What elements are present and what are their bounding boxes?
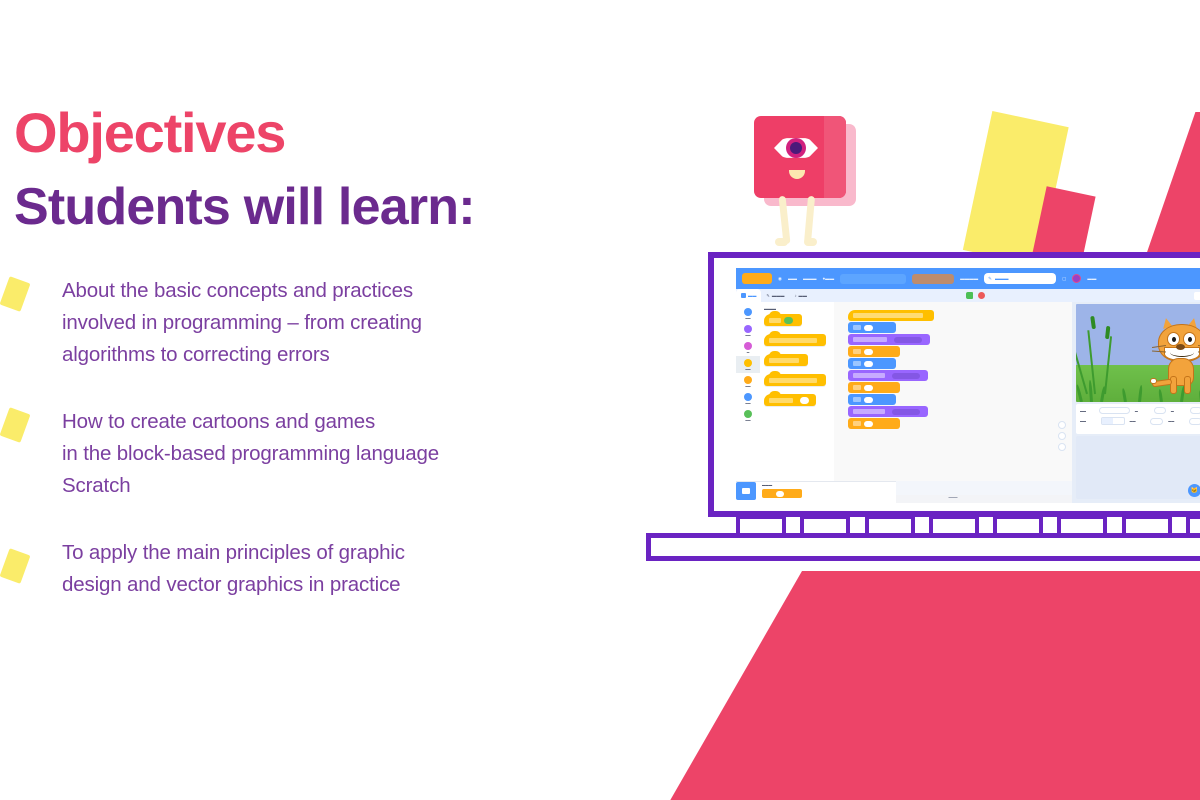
sprite-info-panel: ▬▬ ▬ ▬ ▬▬ [1076,404,1200,434]
palette-block[interactable] [764,374,826,386]
menu-tutorials[interactable]: ●▬▬ [822,276,834,281]
category-label: ▬▬ [745,317,750,320]
green-flag-icon[interactable] [966,292,973,299]
editor-tabs: ▬▬ ✎ ▬▬▬ ♪ ▬▬ [736,289,854,302]
new-project-button[interactable]: ✎ ▬▬▬ [984,273,1056,284]
tab-code[interactable]: ▬▬ [736,289,761,302]
sprite-name-label: ▬▬ [1080,409,1094,413]
list-item-text: About the basic concepts and practices i… [62,275,422,371]
bullet-marker-icon [0,548,30,584]
category-operators[interactable]: ▬▬ [736,407,760,424]
bullet-marker-icon [0,276,30,312]
script-block[interactable] [848,382,900,393]
cat-leg-back [1170,376,1177,394]
folder-icon[interactable]: ▢ [1062,276,1066,282]
category-control[interactable]: ▬▬ [736,373,760,390]
sprite-size-label: ▬▬ [1130,419,1146,423]
category-motion[interactable]: ▬▬ [736,305,760,322]
text-column: Objectives Students will learn: About th… [0,0,660,800]
laptop-key [865,515,915,535]
menu-edit[interactable]: ▬▬▬ [803,276,817,281]
palette-block[interactable] [764,334,826,346]
category-dot-icon [744,308,752,316]
share-button[interactable] [912,274,954,284]
pink-triangle-decoration [1145,112,1200,258]
mascot-foot-left [775,238,788,246]
sprite-direction-input[interactable] [1189,418,1200,425]
category-label: ▬▬ [745,419,750,422]
palette-block[interactable] [764,314,802,326]
script-block[interactable] [848,358,896,369]
script-block[interactable] [848,322,896,333]
page-title-objectives: Objectives [14,104,285,163]
workspace-zoom-controls [1058,421,1066,451]
language-globe-icon[interactable]: ◉ [778,276,782,282]
list-item-text: To apply the main principles of graphic … [62,537,405,601]
cat-leg-front [1184,376,1191,394]
laptop-illustration: ◉ ▬▬ ▬▬▬ ●▬▬ ▬▬▬▬ ✎ ▬▬▬ ▢ ▬▬ [708,252,1200,572]
script-block[interactable] [848,406,928,417]
avatar[interactable] [1072,274,1081,283]
laptop-key [800,515,850,535]
block-category-list: ▬▬ ▬▬ ▬ ▬▬ [736,302,760,481]
script-block[interactable] [848,418,900,429]
category-events[interactable]: ▬▬ [736,356,760,373]
tab-costumes[interactable]: ✎ ▬▬▬ [761,289,789,302]
sprite-name-input[interactable] [1099,407,1130,414]
sprite-direction-label: ▬▬ [1168,419,1184,423]
palette-block[interactable] [764,394,816,406]
scratch-editor: ◉ ▬▬ ▬▬▬ ●▬▬ ▬▬▬▬ ✎ ▬▬▬ ▢ ▬▬ [736,268,1200,503]
laptop-key [1057,515,1107,535]
eye-pupil [790,142,802,154]
category-dot-icon [744,342,752,350]
cat-mouth [1170,348,1194,357]
cat-pupil-left [1172,337,1176,342]
project-name-input[interactable] [840,274,906,284]
backpack-button[interactable] [736,482,756,500]
sprite-y-input[interactable] [1190,407,1200,414]
script-block[interactable] [848,310,934,321]
laptop-screen: ◉ ▬▬ ▬▬▬ ●▬▬ ▬▬▬▬ ✎ ▬▬▬ ▢ ▬▬ [736,268,1200,503]
pink-trapezoid-decoration [592,571,1200,800]
script-block[interactable] [848,334,930,345]
backpack-label: ▬▬▬ [762,483,772,487]
sound-icon: ♪ [794,293,796,298]
zoom-out-icon[interactable] [1058,432,1066,440]
menu-file[interactable]: ▬▬ [788,276,797,281]
tab-code-label: ▬▬ [748,293,756,298]
stop-icon[interactable] [978,292,985,299]
sprite-size-input[interactable] [1150,418,1163,425]
sprite-visibility-toggle[interactable] [1101,417,1125,425]
palette-block[interactable] [764,354,808,366]
laptop-key [736,515,786,535]
backpack-block-item[interactable] [762,489,802,498]
sprite-list[interactable] [1076,436,1200,499]
cattail-head [1090,316,1096,329]
stage-view[interactable] [1076,304,1200,402]
backpack-bar: ▬▬▬ [736,481,896,503]
laptop-key [929,515,979,535]
category-looks[interactable]: ▬▬ [736,322,760,339]
script-block[interactable] [848,370,928,381]
plant-stem [1104,336,1112,394]
sprite-y-label: ▬ [1171,409,1185,413]
cyclops-mascot [748,112,868,258]
pencil-icon: ✎ [988,276,992,282]
scratch-logo-icon[interactable] [742,273,772,284]
mascot-body-shade [824,116,846,198]
category-label: ▬▬ [745,334,750,337]
tab-costumes-label: ▬▬▬ [772,293,785,298]
tab-sounds[interactable]: ♪ ▬▬ [789,289,811,302]
block-script-stack[interactable] [848,310,960,430]
mascot-foot-right [804,238,817,246]
laptop-key [1122,515,1172,535]
code-icon [741,293,746,298]
illustration-area: ◉ ▬▬ ▬▬▬ ●▬▬ ▬▬▬▬ ✎ ▬▬▬ ▢ ▬▬ [640,0,1200,800]
grass-blade [1122,388,1127,402]
scratch-cat-sprite[interactable] [1150,318,1200,398]
script-block[interactable] [848,394,896,405]
category-dot-icon [744,359,752,367]
see-project-page-link[interactable]: ▬▬▬▬ [960,276,978,281]
laptop-keyboard [736,515,1200,535]
category-label: ▬▬ [745,385,750,388]
zoom-reset-icon[interactable] [1058,443,1066,451]
grass-blade [1076,384,1083,402]
stage-size-controls [1194,292,1200,300]
category-label: ▬ [747,351,750,354]
laptop-key [1186,515,1200,535]
sprite-x-input[interactable] [1154,407,1166,414]
new-project-label: ▬▬▬ [995,276,1009,281]
laptop-base [646,533,1200,561]
add-sprite-button[interactable]: 🐱 [1188,484,1200,497]
sprite-x-label: ▬ [1135,409,1149,413]
script-block[interactable] [848,346,900,357]
category-dot-icon [744,325,752,333]
stage-control-bar [854,289,1200,302]
backpack-icon [742,488,750,494]
grass-blade [1138,385,1143,402]
paint-icon: ✎ [766,293,770,298]
category-label: ▬▬ [745,402,750,405]
category-dot-icon [744,410,752,418]
code-workspace[interactable] [834,302,1072,481]
sprite-show-label: ▬▬ [1080,419,1096,423]
tab-sounds-label: ▬▬ [799,293,807,298]
zoom-in-icon[interactable] [1058,421,1066,429]
laptop-key [993,515,1043,535]
list-item-text: How to create cartoons and games in the … [62,406,439,502]
category-dot-icon [744,376,752,384]
account-menu[interactable]: ▬▬ [1087,276,1096,281]
category-sound[interactable]: ▬ [736,339,760,356]
page-subtitle-students-will-learn: Students will learn: [14,180,475,235]
block-palette[interactable]: ▬▬▬ [760,302,834,481]
scratch-toolbar: ◉ ▬▬ ▬▬▬ ●▬▬ ▬▬▬▬ ✎ ▬▬▬ ▢ ▬▬ [736,268,1200,289]
category-sensing[interactable]: ▬▬ [736,390,760,407]
laptop-bezel: ◉ ▬▬ ▬▬▬ ●▬▬ ▬▬▬▬ ✎ ▬▬▬ ▢ ▬▬ [708,252,1200,517]
bullet-marker-icon [0,407,30,443]
cat-tail-tip [1150,378,1157,384]
stage-panel: ▬▬ ▬ ▬ ▬▬ [1072,302,1200,503]
category-label: ▬▬ [745,368,750,371]
small-stage-icon[interactable] [1194,292,1200,300]
cat-pupil-right [1188,337,1192,342]
category-dot-icon [744,393,752,401]
